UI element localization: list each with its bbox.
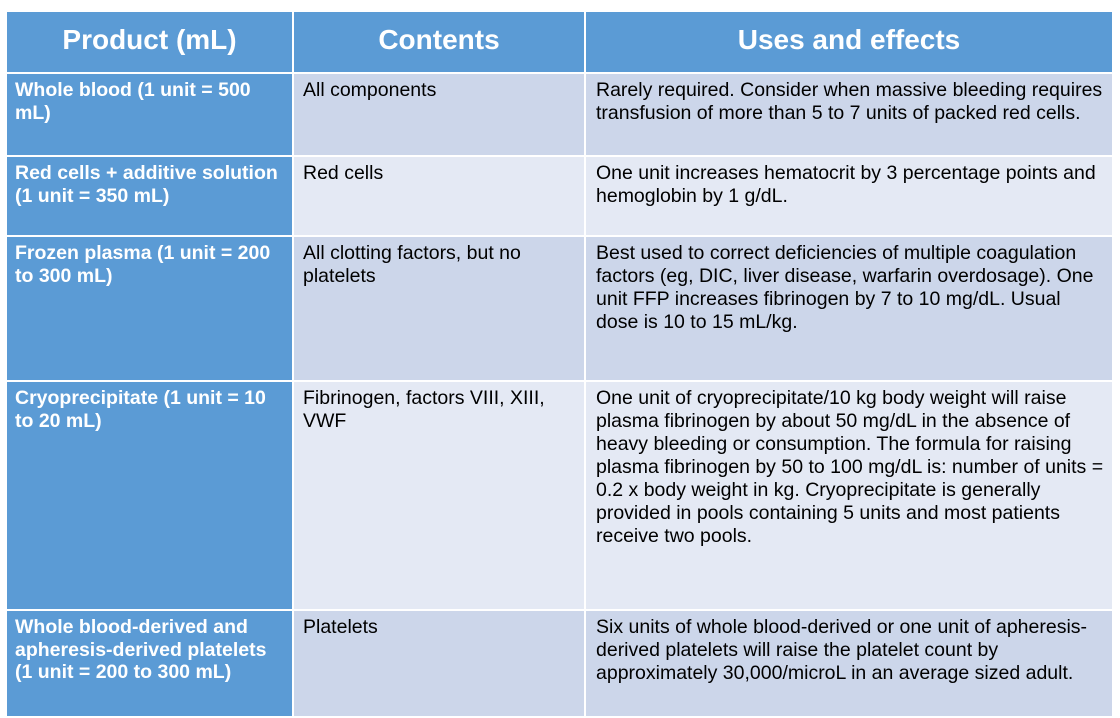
- cell-contents: Platelets: [294, 611, 584, 716]
- table-row: Whole blood-derived and apheresis-derive…: [7, 611, 1112, 716]
- column-header-contents: Contents: [294, 12, 584, 72]
- cell-contents: Red cells: [294, 157, 584, 235]
- cell-contents: Fibrinogen, factors VIII, XIII, VWF: [294, 382, 584, 609]
- cell-product: Whole blood-derived and apheresis-derive…: [7, 611, 292, 716]
- page-root: Product (mL) Contents Uses and effects W…: [0, 0, 1120, 709]
- cell-uses: Rarely required. Consider when massive b…: [586, 74, 1112, 155]
- cell-uses: One unit increases hematocrit by 3 perce…: [586, 157, 1112, 235]
- cell-uses: Six units of whole blood-derived or one …: [586, 611, 1112, 716]
- column-header-product: Product (mL): [7, 12, 292, 72]
- blood-products-table: Product (mL) Contents Uses and effects W…: [5, 10, 1114, 718]
- cell-product: Frozen plasma (1 unit = 200 to 300 mL): [7, 237, 292, 380]
- table-body: Whole blood (1 unit = 500 mL) All compon…: [7, 74, 1112, 716]
- column-header-uses: Uses and effects: [586, 12, 1112, 72]
- table-header: Product (mL) Contents Uses and effects: [7, 12, 1112, 72]
- cell-contents: All clotting factors, but no platelets: [294, 237, 584, 380]
- cell-contents: All components: [294, 74, 584, 155]
- cell-product: Whole blood (1 unit = 500 mL): [7, 74, 292, 155]
- table-row: Whole blood (1 unit = 500 mL) All compon…: [7, 74, 1112, 155]
- table-row: Cryoprecipitate (1 unit = 10 to 20 mL) F…: [7, 382, 1112, 609]
- cell-product: Red cells + additive solution (1 unit = …: [7, 157, 292, 235]
- header-row: Product (mL) Contents Uses and effects: [7, 12, 1112, 72]
- cell-product: Cryoprecipitate (1 unit = 10 to 20 mL): [7, 382, 292, 609]
- cell-uses: One unit of cryoprecipitate/10 kg body w…: [586, 382, 1112, 609]
- cell-uses: Best used to correct deficiencies of mul…: [586, 237, 1112, 380]
- table-row: Frozen plasma (1 unit = 200 to 300 mL) A…: [7, 237, 1112, 380]
- table-row: Red cells + additive solution (1 unit = …: [7, 157, 1112, 235]
